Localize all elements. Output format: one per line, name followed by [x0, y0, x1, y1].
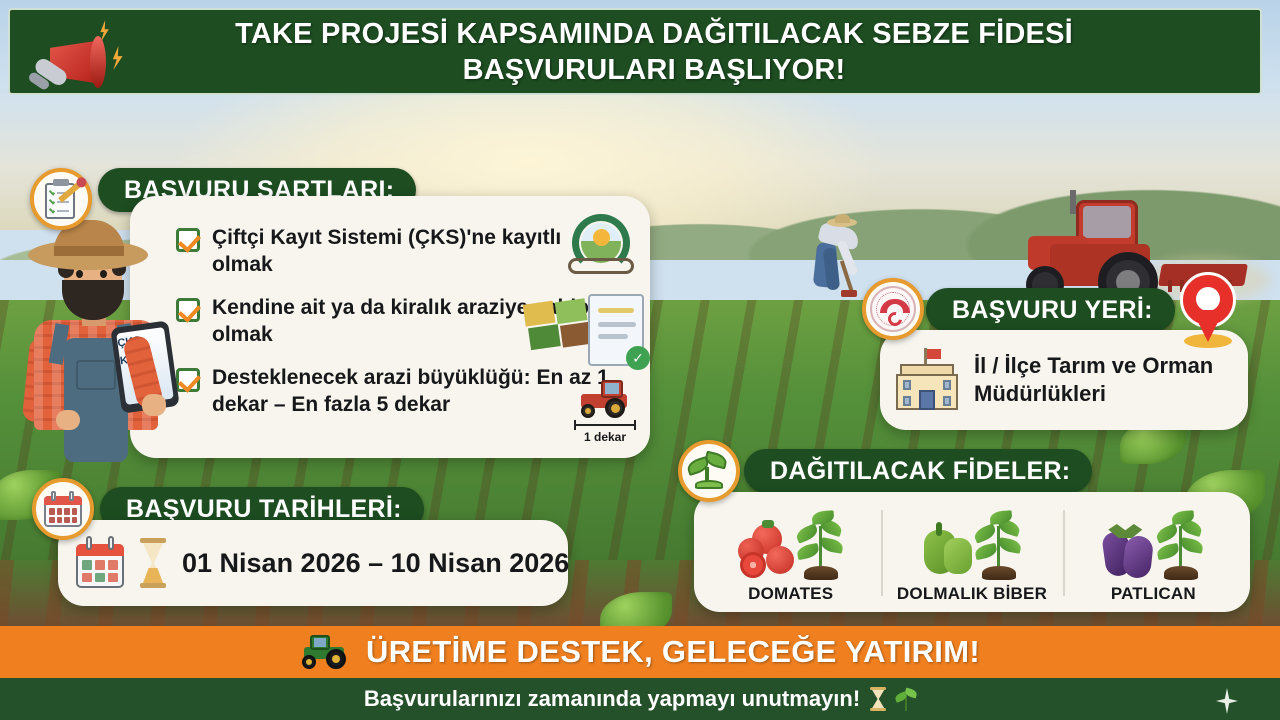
seedling-item-eggplant: PATLICAN [1063, 502, 1244, 604]
footer-slogan-bar: ÜRETİME DESTEK, GELECEĞE YATIRIM! [0, 626, 1280, 678]
conditions-card: Çiftçi Kayıt Sistemi (ÇKS)'ne kayıtlı ol… [130, 196, 650, 458]
dekar-measure-icon: 1 dekar [568, 380, 642, 452]
header-banner: TAKE PROJESİ KAPSAMINDA DAĞITILACAK SEBZ… [8, 8, 1262, 95]
seedlings-heading: DAĞITILACAK FİDELER: [744, 449, 1092, 493]
condition-text: Çiftçi Kayıt Sistemi (ÇKS)'ne kayıtlı ol… [212, 224, 624, 278]
sprout-icon [896, 687, 916, 711]
location-value-line-2: Müdürlükleri [974, 380, 1213, 408]
poster-root: TAKE PROJESİ KAPSAMINDA DAĞITILACAK SEBZ… [0, 0, 1280, 720]
seedlings-card: DOMATES DOLMALIK BİBER [694, 492, 1250, 612]
footer-note-bar: Başvurularınızı zamanında yapmayı unutma… [0, 678, 1280, 720]
tractor-icon [300, 635, 352, 669]
dates-value: 01 Nisan 2026 – 10 Nisan 2026 [182, 548, 569, 579]
hourglass-icon [870, 687, 886, 711]
hourglass-icon [138, 538, 168, 588]
contract-document-icon: ✓ [588, 294, 644, 366]
government-building-icon [894, 348, 960, 412]
seedling-label: DOMATES [748, 584, 833, 604]
dekar-label: 1 dekar [568, 430, 642, 444]
condition-item: Desteklenecek arazi büyüklüğü: En az 1 d… [176, 364, 624, 418]
ministry-emblem-icon [862, 278, 924, 340]
land-parcels-icon [523, 296, 596, 357]
pepper-icon [922, 506, 1022, 580]
seedling-label: PATLICAN [1111, 584, 1196, 604]
calendar-large-icon [76, 536, 130, 590]
sprout-icon [678, 440, 740, 502]
farmer-illustration: ÇKS KAYDI [8, 218, 198, 468]
header-title-line-2: BAŞVURULARI BAŞLIYOR! [235, 52, 1073, 88]
condition-item: Çiftçi Kayıt Sistemi (ÇKS)'ne kayıtlı ol… [176, 224, 624, 278]
eggplant-icon [1102, 506, 1204, 580]
cks-logo-icon [566, 214, 638, 276]
dates-card: 01 Nisan 2026 – 10 Nisan 2026 [58, 520, 568, 606]
background-farmer-hoeing [805, 218, 875, 298]
calendar-icon [32, 478, 94, 540]
condition-text: Desteklenecek arazi büyüklüğü: En az 1 d… [212, 364, 624, 418]
footer-note: Başvurularınızı zamanında yapmayı unutma… [364, 686, 860, 712]
footer-slogan: ÜRETİME DESTEK, GELECEĞE YATIRIM! [366, 634, 980, 670]
megaphone-icon [32, 18, 128, 98]
header-title-line-1: TAKE PROJESİ KAPSAMINDA DAĞITILACAK SEBZ… [235, 16, 1073, 52]
location-heading: BAŞVURU YERİ: [926, 288, 1175, 332]
seedling-item-pepper: DOLMALIK BİBER [881, 502, 1062, 604]
map-pin-icon [1180, 272, 1236, 346]
header-title: TAKE PROJESİ KAPSAMINDA DAĞITILACAK SEBZ… [179, 16, 1091, 88]
tomato-icon [738, 506, 844, 580]
clipboard-checklist-icon [30, 168, 92, 230]
location-value-line-1: İl / İlçe Tarım ve Orman [974, 352, 1213, 380]
location-value: İl / İlçe Tarım ve Orman Müdürlükleri [974, 352, 1213, 408]
seedling-item-tomato: DOMATES [700, 502, 881, 604]
seedling-label: DOLMALIK BİBER [897, 584, 1047, 604]
